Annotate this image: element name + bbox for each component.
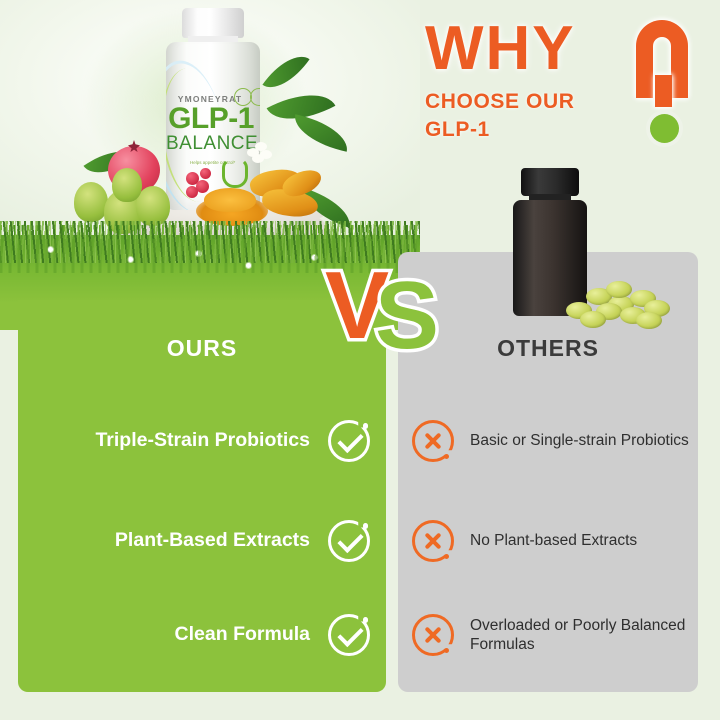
others-feature-row: No Plant-based Extracts bbox=[412, 518, 690, 564]
ours-feature-row: Triple-Strain Probiotics bbox=[40, 418, 370, 464]
others-feature-label: No Plant-based Extracts bbox=[470, 531, 637, 550]
bottle-body: YMONEYRAT GLP-1 BALANCE Helps appetite c… bbox=[166, 42, 260, 210]
check-ring-dot bbox=[363, 423, 369, 429]
headline-sub-line-2: GLP-1 bbox=[425, 116, 575, 144]
ours-feature-row: Clean Formula bbox=[40, 612, 370, 658]
others-heading: OTHERS bbox=[398, 335, 698, 362]
x-circle-icon bbox=[412, 520, 454, 562]
others-feature-row: Basic or Single-strain Probiotics bbox=[412, 418, 690, 464]
question-mark-stem bbox=[655, 75, 672, 107]
ours-feature-label: Triple-Strain Probiotics bbox=[95, 429, 310, 452]
product-name: GLP-1 bbox=[166, 104, 256, 134]
white-flower bbox=[247, 142, 273, 164]
x-circle-icon bbox=[412, 420, 454, 462]
headline-why: WHY bbox=[425, 18, 576, 80]
ours-feature-row: Plant-Based Extracts bbox=[40, 518, 370, 564]
question-mark-dot bbox=[650, 114, 679, 143]
check-circle-icon bbox=[328, 614, 370, 656]
berry-cluster bbox=[200, 168, 211, 179]
headline-subtitle: CHOOSE OUR GLP-1 bbox=[425, 88, 575, 145]
gut-health-icon bbox=[216, 154, 250, 188]
competitor-bottle-body bbox=[513, 200, 587, 316]
others-feature-row: Overloaded or Poorly Balanced Formulas bbox=[412, 612, 690, 658]
ours-feature-label: Clean Formula bbox=[175, 623, 310, 646]
x-ring-dot bbox=[444, 454, 450, 460]
competitor-bottle bbox=[513, 168, 587, 316]
others-feature-label: Basic or Single-strain Probiotics bbox=[470, 431, 689, 450]
check-ring-dot bbox=[363, 523, 369, 529]
infographic-canvas: YMONEYRAT GLP-1 BALANCE Helps appetite c… bbox=[0, 0, 720, 720]
competitor-bottle-cap bbox=[521, 168, 579, 196]
bottle-cap bbox=[182, 8, 244, 38]
x-circle-icon bbox=[412, 614, 454, 656]
check-circle-icon bbox=[328, 420, 370, 462]
headline-sub-line-1: CHOOSE OUR bbox=[425, 88, 575, 116]
hops-cone bbox=[74, 182, 108, 222]
x-ring-dot bbox=[444, 554, 450, 560]
product-subtitle: BALANCE bbox=[166, 134, 256, 153]
berry-cluster bbox=[186, 186, 198, 198]
question-mark-icon bbox=[632, 20, 700, 140]
ours-heading: OURS bbox=[18, 335, 386, 362]
check-ring-dot bbox=[363, 617, 369, 623]
turmeric-powder bbox=[204, 188, 256, 212]
others-feature-label: Overloaded or Poorly Balanced Formulas bbox=[470, 616, 690, 655]
x-ring-dot bbox=[444, 648, 450, 654]
check-circle-icon bbox=[328, 520, 370, 562]
ours-feature-label: Plant-Based Extracts bbox=[115, 529, 310, 552]
hops-cone bbox=[112, 168, 142, 202]
